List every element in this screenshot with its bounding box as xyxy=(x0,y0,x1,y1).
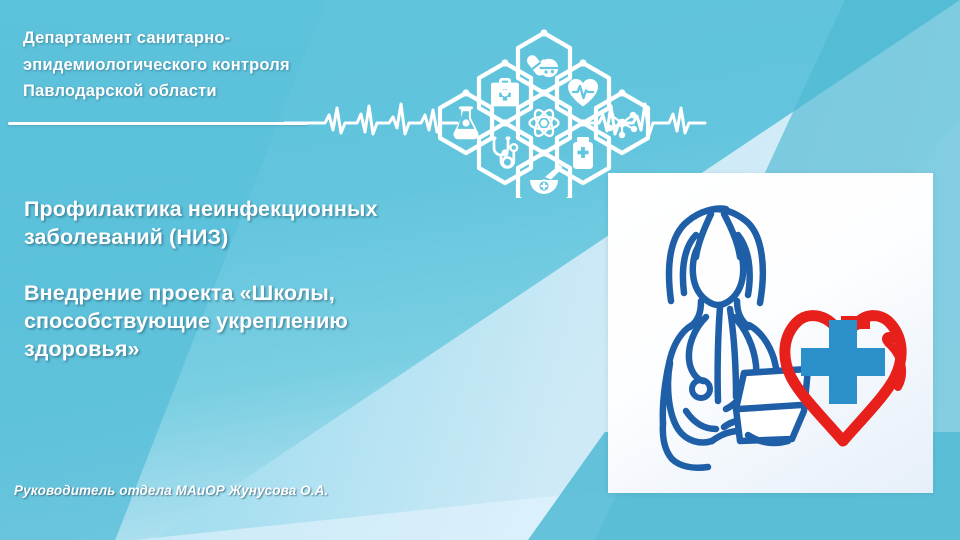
mortar-pestle-icon xyxy=(530,165,562,194)
presentation-slide: Департамент санитарно- эпидемиологическо… xyxy=(0,0,960,540)
ekg-line-left xyxy=(285,104,457,134)
presenter-credit: Руководитель отдела МАиОР Жунусова О.А. xyxy=(14,483,534,498)
doctor-heart-illustration xyxy=(608,173,933,493)
molecule-icon xyxy=(607,112,637,138)
body-line-4: способствующие укреплению xyxy=(24,308,544,336)
medical-hexagon-cluster xyxy=(175,18,795,198)
stethoscope-knob xyxy=(882,332,896,346)
body-line-1: Профилактика неинфекционных xyxy=(24,196,544,224)
slide-body-text: Профилактика неинфекционных заболеваний … xyxy=(24,196,544,364)
blue-medical-cross xyxy=(801,320,885,404)
medicine-bottle-icon xyxy=(573,137,593,169)
body-line-5: здоровья» xyxy=(24,336,544,364)
body-line-3: Внедрение проекта «Школы, xyxy=(24,280,544,308)
pills-icon xyxy=(525,53,558,78)
hexagon-joints xyxy=(462,29,625,186)
body-spacer xyxy=(24,252,544,280)
atom-icon xyxy=(530,107,559,138)
body-line-2: заболеваний (НИЗ) xyxy=(24,224,544,252)
heartbeat-icon xyxy=(568,79,598,107)
